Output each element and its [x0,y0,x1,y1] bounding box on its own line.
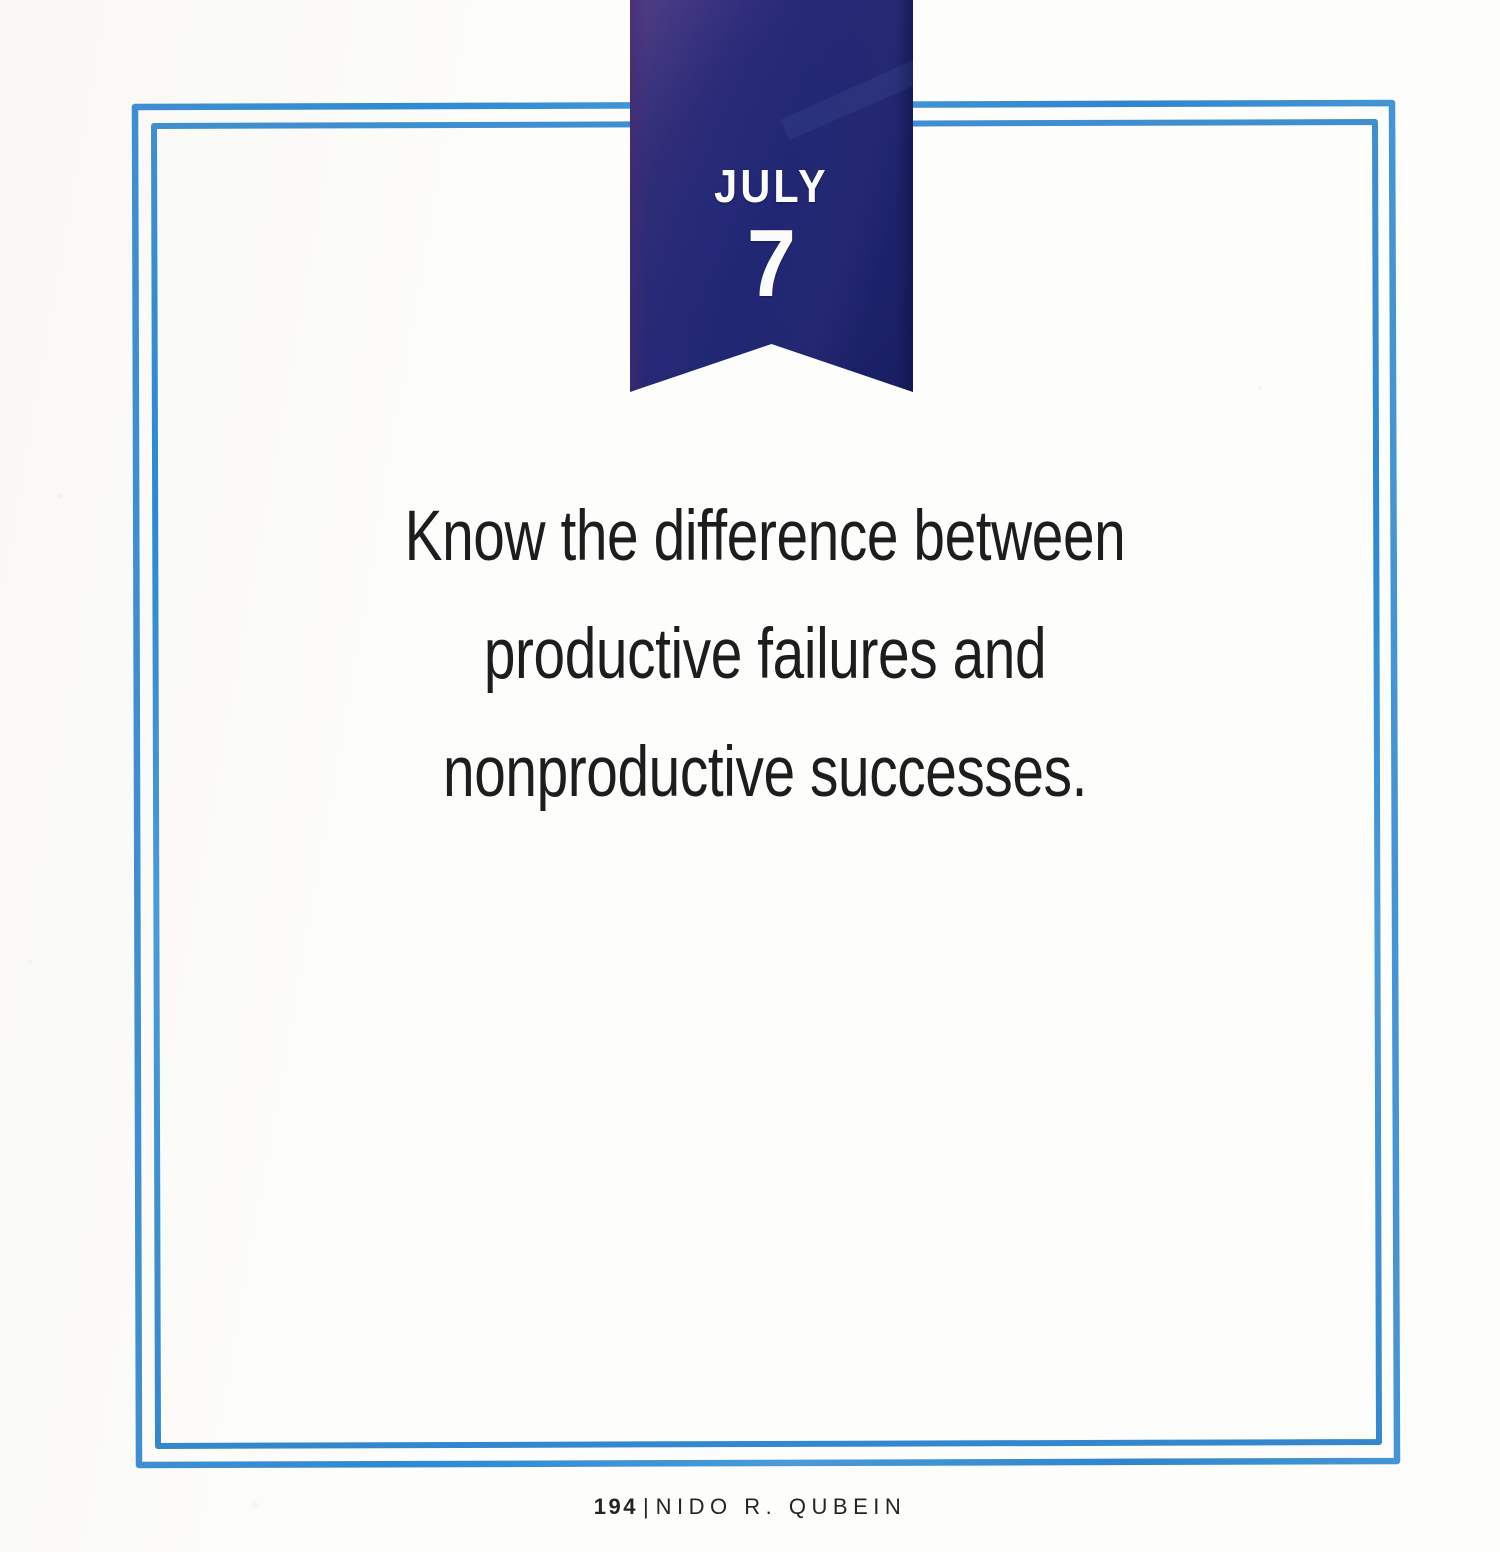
quote-text: Know the difference between productive f… [190,478,1340,832]
quote-line-2: productive failures and [305,596,1225,714]
footer-author-name: NIDO R. QUBEIN [656,1494,907,1519]
quote-line-3: nonproductive successes. [305,714,1225,832]
date-ribbon: JULY 7 [630,0,913,396]
footer-separator: | [638,1494,656,1519]
page-footer: 194|NIDO R. QUBEIN [0,1492,1500,1522]
calendar-page: JULY 7 Know the difference between produ… [0,0,1500,1552]
quote-line-1: Know the difference between [305,478,1225,596]
ribbon-month-label: JULY [644,163,899,209]
ribbon-day-label: 7 [641,216,901,312]
footer-page-number: 194 [594,1494,638,1519]
